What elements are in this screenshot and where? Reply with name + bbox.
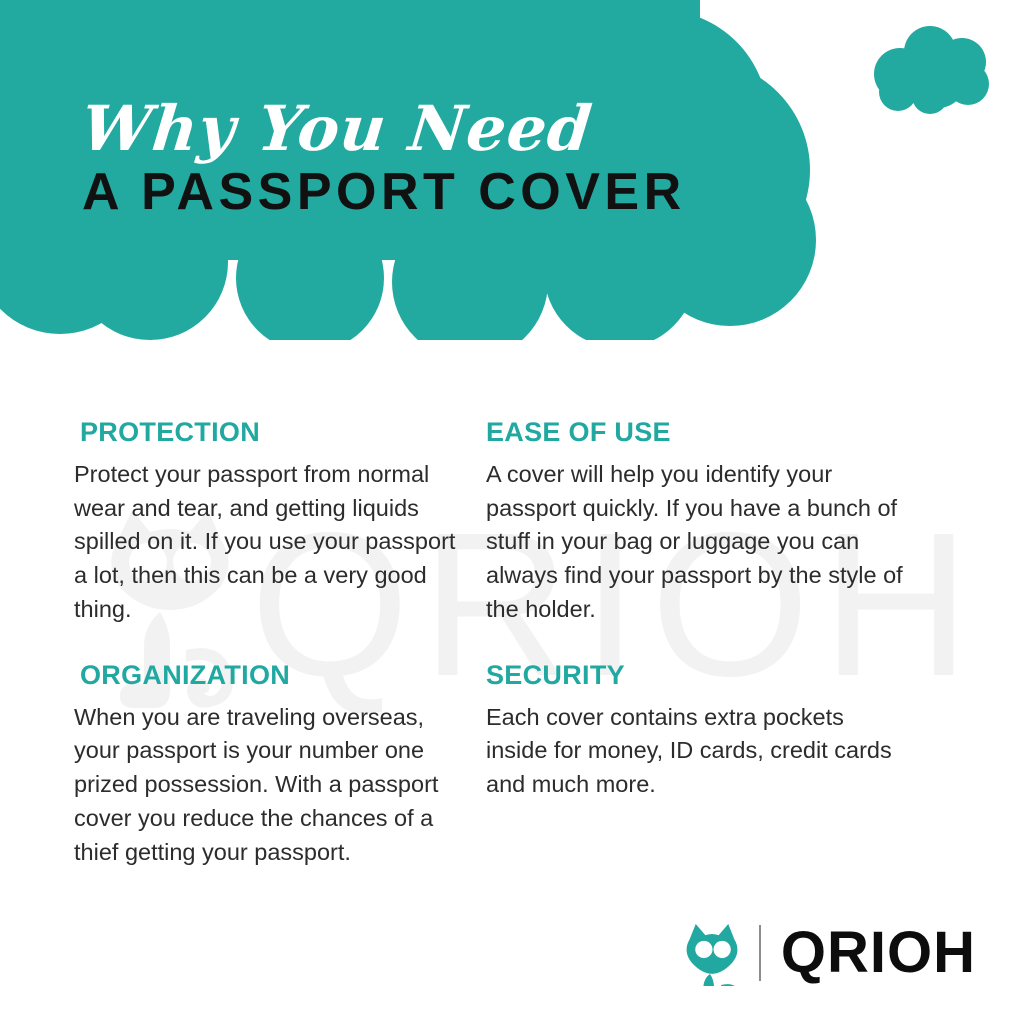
cat-icon	[681, 920, 743, 986]
brand-logo: QRIOH	[681, 920, 976, 986]
section-protection: PROTECTION Protect your passport from no…	[0, 418, 468, 627]
section-heading-ease-of-use: EASE OF USE	[486, 418, 944, 448]
logo-divider	[759, 925, 761, 981]
section-row-bottom: ORGANIZATION When you are traveling over…	[0, 661, 1024, 870]
section-organization: ORGANIZATION When you are traveling over…	[0, 661, 468, 870]
title-block: Why You Need A PASSPORT COVER	[82, 96, 782, 220]
section-heading-organization: ORGANIZATION	[74, 661, 468, 691]
page-title: A PASSPORT COVER	[82, 165, 782, 220]
row-spacer	[0, 627, 1024, 661]
sections-grid: PROTECTION Protect your passport from no…	[0, 418, 1024, 870]
section-body-ease-of-use: A cover will help you identify your pass…	[486, 458, 906, 627]
section-ease-of-use: EASE OF USE A cover will help you identi…	[468, 418, 944, 627]
infographic-canvas: QRIOH	[0, 0, 1024, 1024]
logo-wordmark: QRIOH	[781, 924, 976, 982]
section-body-security: Each cover contains extra pockets inside…	[486, 701, 906, 802]
title-script: Why You Need	[79, 96, 786, 161]
section-row-top: PROTECTION Protect your passport from no…	[0, 418, 1024, 627]
section-heading-protection: PROTECTION	[74, 418, 468, 448]
section-heading-security: SECURITY	[486, 661, 944, 691]
small-cloud-shape	[874, 26, 989, 114]
section-body-organization: When you are traveling overseas, your pa…	[74, 701, 468, 870]
section-security: SECURITY Each cover contains extra pocke…	[468, 661, 944, 802]
section-body-protection: Protect your passport from normal wear a…	[74, 458, 468, 627]
